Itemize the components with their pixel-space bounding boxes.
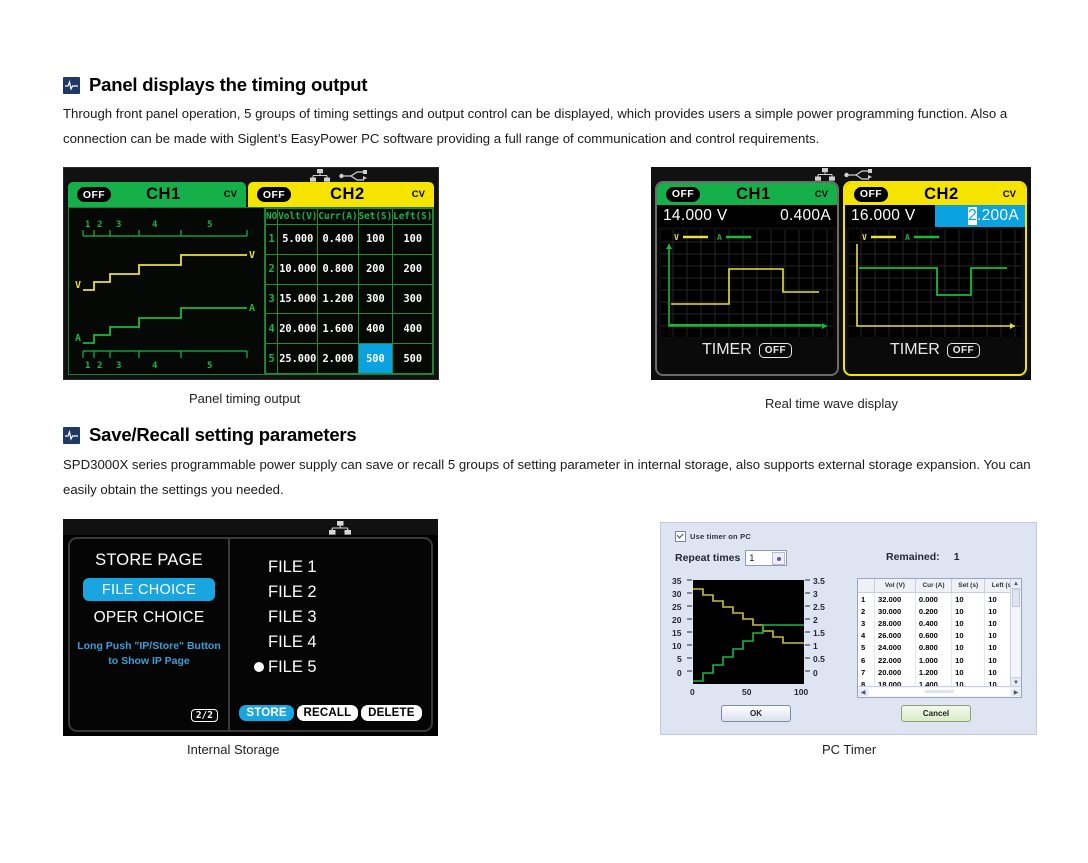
- ch1-readout: 14.000 V 0.400A: [657, 205, 837, 227]
- svg-text:3: 3: [116, 220, 121, 230]
- list-item[interactable]: FILE 3: [268, 605, 431, 630]
- waveform-icon: [63, 427, 80, 444]
- scroll-left-arrow-icon[interactable]: ◀: [858, 689, 868, 696]
- cell-curr[interactable]: 1.200: [318, 284, 358, 314]
- ch2-timer-row: TIMER OFF: [845, 337, 1025, 363]
- cell-set[interactable]: 10: [952, 617, 985, 629]
- file-label: FILE 1: [268, 558, 317, 576]
- cell-left: 200: [393, 254, 433, 284]
- y2-tick-3: 3: [813, 589, 818, 599]
- scrollbar-thumb[interactable]: [1012, 589, 1020, 607]
- vertical-scrollbar[interactable]: ▲ ▼: [1010, 579, 1021, 687]
- svg-text:5: 5: [207, 220, 212, 230]
- cell-vol[interactable]: 22.000: [875, 654, 916, 666]
- svg-text:2: 2: [97, 220, 102, 230]
- col-left: Left(S): [393, 209, 433, 225]
- tab-ch1[interactable]: OFF CH1 CV: [68, 182, 246, 207]
- ch1-mode-badge: CV: [815, 189, 828, 200]
- table-row[interactable]: 1 5.000 0.400 100 100: [266, 225, 433, 255]
- cell-vol[interactable]: 28.000: [875, 617, 916, 629]
- section-paragraph-timing: Through front panel operation, 5 groups …: [63, 101, 1039, 151]
- delete-button[interactable]: DELETE: [361, 705, 422, 721]
- y2-tick-3.5: 3.5: [813, 576, 825, 586]
- page-root: Panel displays the timing output Through…: [0, 0, 1088, 863]
- timing-parameter-table[interactable]: NO Volt(V) Curr(A) Set(S) Left(S) 1 5.00…: [265, 208, 433, 374]
- ch1-label: CH1: [103, 185, 224, 204]
- menu-item-file-choice[interactable]: FILE CHOICE: [83, 578, 215, 601]
- list-item-selected[interactable]: FILE 5: [268, 655, 431, 680]
- repeat-times-label: Repeat times: [675, 552, 740, 564]
- y-tick-5: 5: [677, 654, 682, 664]
- y-tick-20: 20: [672, 615, 681, 625]
- cell-index: 5: [858, 642, 875, 654]
- ch1-current-value[interactable]: 0.400A: [747, 205, 837, 227]
- device-internal-storage-screenshot: STORE PAGE FILE CHOICE OPER CHOICE Long …: [63, 519, 438, 736]
- table-row[interactable]: 3 15.000 1.200 300 300: [266, 284, 433, 314]
- use-timer-label: Use timer on PC: [690, 532, 751, 541]
- table-row[interactable]: 4 26.000 0.600 10 10: [858, 630, 1021, 642]
- device-screen-body: 1 2 3 4 5 V V A A 1 2: [68, 207, 434, 375]
- wave-panel-ch1: OFF CH1 CV 14.000 V 0.400A V A: [655, 181, 839, 376]
- cell-set[interactable]: 10: [952, 654, 985, 666]
- table-row[interactable]: 1 32.000 0.000 10 10: [858, 593, 1021, 606]
- selected-set-value: 500: [366, 353, 385, 365]
- waveform-icon: [63, 77, 80, 94]
- wave-panel-ch2: OFF CH2 CV 16.000 V 2.200A V A: [843, 181, 1027, 376]
- list-item[interactable]: FILE 4: [268, 630, 431, 655]
- svg-text:3: 3: [116, 361, 121, 371]
- section-title: Save/Recall setting parameters: [89, 424, 357, 446]
- table-row[interactable]: 5 24.000 0.800 10 10: [858, 642, 1021, 654]
- cell-left: 500: [393, 344, 433, 374]
- table-row[interactable]: 5 25.000 2.000 500 500: [266, 344, 433, 374]
- cell-no: 1: [266, 225, 278, 255]
- x-tick-100: 100: [794, 687, 808, 697]
- svg-text:V: V: [249, 250, 255, 261]
- cell-cur[interactable]: 0.200: [915, 605, 951, 617]
- scrollbar-track[interactable]: [869, 688, 1010, 696]
- use-timer-checkbox-row[interactable]: Use timer on PC: [675, 531, 751, 542]
- checkbox-icon[interactable]: [675, 531, 686, 542]
- page-indicator: 2/2: [191, 709, 218, 722]
- file-label: FILE 2: [268, 583, 317, 601]
- repeat-times-value[interactable]: 1: [746, 553, 754, 563]
- cell-set[interactable]: 400: [358, 314, 393, 344]
- cell-volt[interactable]: 25.000: [278, 344, 318, 374]
- svg-text:V: V: [862, 233, 867, 242]
- ch2-label: CH2: [880, 185, 1003, 204]
- ch2-voltage-value[interactable]: 16.000 V: [845, 205, 935, 227]
- file-label: FILE 5: [268, 658, 317, 676]
- table-header-row: NO Volt(V) Curr(A) Set(S) Left(S): [266, 209, 433, 225]
- y2-tick-2: 2: [813, 615, 818, 625]
- device-real-time-wave-screenshot: OFF CH1 CV 14.000 V 0.400A V A: [651, 167, 1031, 380]
- cell-volt[interactable]: 5.000: [278, 225, 318, 255]
- list-item[interactable]: FILE 1: [268, 555, 431, 580]
- recall-button[interactable]: RECALL: [297, 705, 359, 721]
- ch2-current-cursor-digit: 2: [968, 207, 977, 225]
- cell-index: 2: [858, 605, 875, 617]
- y-tick-25: 25: [672, 602, 681, 612]
- svg-text:4: 4: [152, 220, 158, 230]
- section-title: Panel displays the timing output: [89, 74, 367, 96]
- table-row[interactable]: 2 10.000 0.800 200 200: [266, 254, 433, 284]
- caption-panel-timing: Panel timing output: [189, 391, 300, 406]
- selected-bullet-icon: [254, 662, 264, 672]
- storage-button-row: STORE RECALL DELETE: [238, 705, 423, 721]
- y2-tick-2.5: 2.5: [813, 602, 825, 612]
- svg-text:A: A: [905, 233, 910, 242]
- y2-tick-0.5: 0.5: [813, 654, 825, 664]
- cell-no: 3: [266, 284, 278, 314]
- cell-cur[interactable]: 1.000: [915, 654, 951, 666]
- col-cur: Cur (A): [915, 579, 951, 593]
- ok-button[interactable]: OK: [721, 705, 791, 722]
- ch1-wave-chart: V A: [661, 230, 833, 337]
- cell-curr[interactable]: 0.400: [318, 225, 358, 255]
- svg-text:A: A: [717, 233, 722, 242]
- table-header-row: Vol (V) Cur (A) Set (s) Left (s): [858, 579, 1021, 593]
- ch2-mode-badge: CV: [1003, 189, 1016, 200]
- file-list[interactable]: FILE 1 FILE 2 FILE 3 FILE 4 FILE 5: [230, 555, 431, 680]
- cell-set[interactable]: 200: [358, 254, 393, 284]
- cell-set[interactable]: 10: [952, 593, 985, 606]
- store-page-title: STORE PAGE: [70, 551, 228, 570]
- cell-vol[interactable]: 26.000: [875, 630, 916, 642]
- cell-set[interactable]: 300: [358, 284, 393, 314]
- caption-internal-storage: Internal Storage: [187, 742, 280, 757]
- cell-left: 100: [393, 225, 433, 255]
- table-row[interactable]: 7 20.000 1.200 10 10: [858, 666, 1021, 678]
- cell-set[interactable]: 100: [358, 225, 393, 255]
- section-heading-save-recall: Save/Recall setting parameters: [63, 424, 357, 446]
- col-curr: Curr(A): [318, 209, 358, 225]
- y2-tick-1.5: 1.5: [813, 628, 825, 638]
- cell-set[interactable]: 10: [952, 666, 985, 678]
- ch2-mode-badge: CV: [412, 189, 425, 200]
- table-row[interactable]: 6 22.000 1.000 10 10: [858, 654, 1021, 666]
- ch1-timer-state-badge[interactable]: OFF: [759, 343, 792, 358]
- cell-no: 2: [266, 254, 278, 284]
- cell-vol[interactable]: 32.000: [875, 593, 916, 606]
- cell-index: 3: [858, 617, 875, 629]
- cell-index: 6: [858, 654, 875, 666]
- device-panel-timing-screenshot: OFF CH1 CV OFF CH2 CV 1 2 3 4: [63, 167, 439, 380]
- table-row[interactable]: 3 28.000 0.400 10 10: [858, 617, 1021, 629]
- ch2-wave-chart: V A: [849, 230, 1021, 337]
- ch2-timer-state-badge[interactable]: OFF: [947, 343, 980, 358]
- svg-text:4: 4: [152, 361, 158, 371]
- remained-value: 1: [954, 551, 960, 563]
- cell-volt[interactable]: 10.000: [278, 254, 318, 284]
- col-index: [858, 579, 875, 593]
- section-paragraph-save-recall: SPD3000X series programmable power suppl…: [63, 452, 1039, 502]
- svg-text:1: 1: [85, 361, 90, 371]
- svg-text:2: 2: [97, 361, 102, 371]
- repeat-times-stepper[interactable]: 1: [745, 550, 787, 566]
- x-tick-50: 50: [742, 687, 751, 697]
- y-tick-0: 0: [677, 668, 682, 678]
- cell-curr[interactable]: 1.600: [318, 314, 358, 344]
- pc-timer-dialog: Use timer on PC Repeat times 1 Remained:…: [660, 522, 1037, 735]
- svg-text:A: A: [75, 333, 81, 344]
- ch1-timer-row: TIMER OFF: [657, 337, 837, 363]
- cell-vol[interactable]: 30.000: [875, 605, 916, 617]
- cell-curr[interactable]: 0.800: [318, 254, 358, 284]
- remained-row: Remained:1: [886, 551, 960, 563]
- cell-set-selected[interactable]: 500: [358, 344, 393, 374]
- file-label: FILE 4: [268, 633, 317, 651]
- cell-no: 5: [266, 344, 278, 374]
- timing-waveform-chart: 1 2 3 4 5 V V A A 1 2: [69, 208, 265, 374]
- cell-index: 7: [858, 666, 875, 678]
- y-tick-30: 30: [672, 589, 681, 599]
- ch2-label: CH2: [283, 185, 412, 204]
- svg-text:1: 1: [85, 220, 90, 230]
- table-row[interactable]: 4 20.000 1.600 400 400: [266, 314, 433, 344]
- store-button[interactable]: STORE: [239, 705, 293, 721]
- storage-hint: Long Push "IP/Store" Button to Show IP P…: [70, 639, 228, 669]
- ch1-header: OFF CH1 CV: [657, 183, 837, 205]
- svg-text:5: 5: [207, 361, 212, 371]
- tab-ch2[interactable]: OFF CH2 CV: [248, 182, 434, 207]
- cell-cur[interactable]: 1.200: [915, 666, 951, 678]
- col-set: Set(S): [358, 209, 393, 225]
- storage-left-pane: STORE PAGE FILE CHOICE OPER CHOICE Long …: [70, 539, 230, 730]
- cell-vol[interactable]: 24.000: [875, 642, 916, 654]
- storage-screen: STORE PAGE FILE CHOICE OPER CHOICE Long …: [68, 537, 433, 732]
- cell-set[interactable]: 10: [952, 605, 985, 617]
- ch2-timer-label: TIMER: [890, 341, 940, 359]
- ch2-readout: 16.000 V 2.200A: [845, 205, 1025, 227]
- ch2-current-value[interactable]: 2.200A: [935, 205, 1025, 227]
- svg-text:V: V: [674, 233, 679, 242]
- remained-label: Remained:: [886, 551, 940, 563]
- section-heading-timing: Panel displays the timing output: [63, 74, 367, 96]
- cancel-button[interactable]: Cancel: [901, 705, 971, 722]
- col-volt: Volt(V): [278, 209, 318, 225]
- x-tick-0: 0: [690, 687, 695, 697]
- col-set: Set (s): [952, 579, 985, 593]
- cell-volt[interactable]: 15.000: [278, 284, 318, 314]
- y-tick-35: 35: [672, 576, 681, 586]
- device-top-bar: [63, 519, 438, 535]
- col-vol: Vol (V): [875, 579, 916, 593]
- ch1-mode-badge: CV: [224, 189, 237, 200]
- ch2-header: OFF CH2 CV: [845, 183, 1025, 205]
- file-label: FILE 3: [268, 608, 317, 626]
- menu-item-oper-choice[interactable]: OPER CHOICE: [70, 609, 228, 627]
- pc-timer-chart: [693, 580, 804, 684]
- cell-index: 4: [858, 630, 875, 642]
- cell-index: 1: [858, 593, 875, 606]
- svg-text:A: A: [249, 303, 255, 314]
- horizontal-scrollbar[interactable]: ◀ ▶: [858, 686, 1021, 697]
- scroll-up-arrow-icon[interactable]: ▲: [1011, 579, 1021, 589]
- repeat-times-row: Repeat times 1: [675, 550, 787, 566]
- cell-set[interactable]: 10: [952, 642, 985, 654]
- svg-text:V: V: [75, 280, 81, 291]
- storage-hint-line1: Long Push "IP/Store" Button: [77, 640, 221, 652]
- channel-tab-bar: OFF CH1 CV OFF CH2 CV: [68, 182, 434, 207]
- cell-volt[interactable]: 20.000: [278, 314, 318, 344]
- cell-cur[interactable]: 0.400: [915, 617, 951, 629]
- y2-tick-1: 1: [813, 641, 818, 651]
- col-no: NO: [266, 209, 278, 225]
- cell-left: 400: [393, 314, 433, 344]
- ch1-label: CH1: [692, 185, 815, 204]
- table-row[interactable]: 2 30.000 0.200 10 10: [858, 605, 1021, 617]
- storage-hint-line2: to Show IP Page: [108, 655, 190, 667]
- caption-real-time-wave: Real time wave display: [765, 396, 898, 411]
- caption-pc-timer: PC Timer: [822, 742, 876, 757]
- ch2-current-rest: .200A: [977, 207, 1019, 225]
- storage-right-pane: FILE 1 FILE 2 FILE 3 FILE 4 FILE 5 STORE…: [230, 539, 431, 730]
- pc-timer-parameter-table[interactable]: Vol (V) Cur (A) Set (s) Left (s) 1 32.00…: [857, 578, 1022, 698]
- scroll-right-arrow-icon[interactable]: ▶: [1011, 689, 1021, 696]
- cell-no: 4: [266, 314, 278, 344]
- spinner-button-icon[interactable]: [772, 552, 785, 565]
- cell-cur[interactable]: 0.800: [915, 642, 951, 654]
- cell-set[interactable]: 10: [952, 630, 985, 642]
- list-item[interactable]: FILE 2: [268, 580, 431, 605]
- y-axis-ticks-right: [804, 578, 812, 682]
- y2-tick-0: 0: [813, 668, 818, 678]
- cell-cur[interactable]: 0.600: [915, 630, 951, 642]
- y-axis-ticks-left: [685, 578, 693, 682]
- cell-vol[interactable]: 20.000: [875, 666, 916, 678]
- ch1-voltage-value[interactable]: 14.000 V: [657, 205, 747, 227]
- ch1-timer-label: TIMER: [702, 341, 752, 359]
- cell-left: 300: [393, 284, 433, 314]
- cell-curr[interactable]: 2.000: [318, 344, 358, 374]
- y-tick-10: 10: [672, 641, 681, 651]
- cell-cur[interactable]: 0.000: [915, 593, 951, 606]
- y-tick-15: 15: [672, 628, 681, 638]
